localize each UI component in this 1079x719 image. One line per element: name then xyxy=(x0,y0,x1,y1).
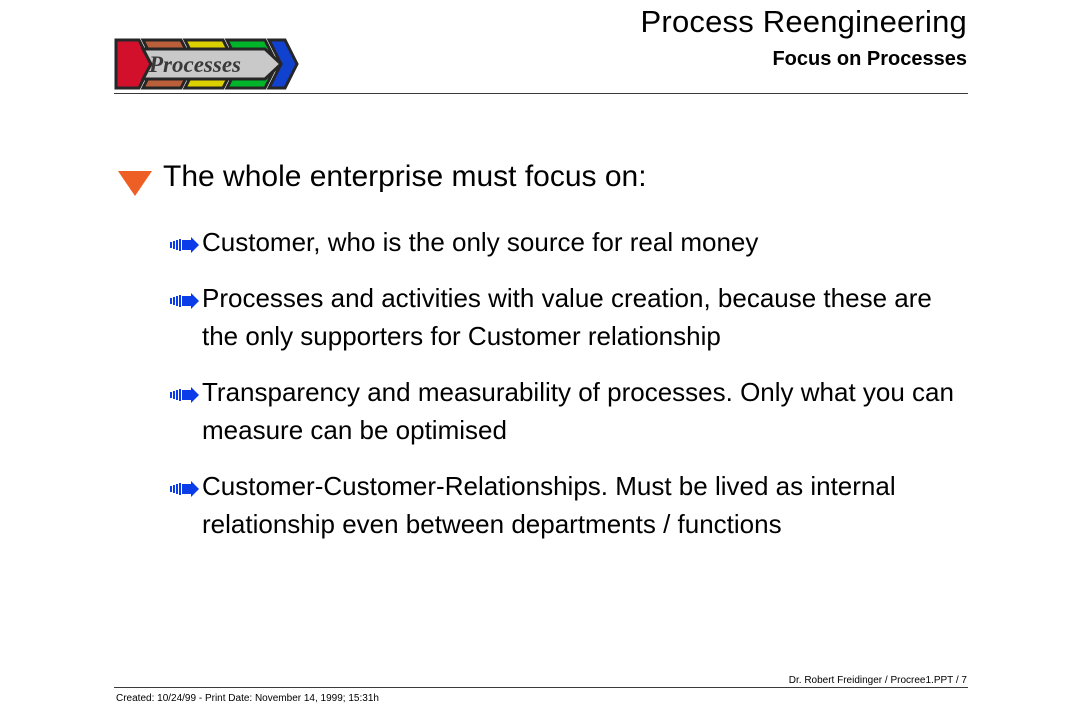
slide-footer: Created: 10/24/99 - Print Date: November… xyxy=(0,679,1079,719)
list-item: Transparency and measurability of proces… xyxy=(0,374,1079,450)
page-subtitle: Focus on Processes xyxy=(641,49,967,69)
header-divider xyxy=(114,93,968,94)
footer-author-file-page: Dr. Robert Freidinger / Procree1.PPT / 7 xyxy=(789,675,967,686)
list-item-label: Customer, who is the only source for rea… xyxy=(202,224,959,262)
logo-label: Processes xyxy=(148,52,241,77)
list-item-label: Transparency and measurability of proces… xyxy=(202,374,959,450)
slide-header: Processes Process Reengineering Focus on… xyxy=(0,0,1079,100)
title-block: Process Reengineering Focus on Processes xyxy=(641,6,967,69)
motion-arrow-right-icon xyxy=(170,292,200,310)
processes-logo: Processes xyxy=(113,36,299,92)
list-item: Processes and activities with value crea… xyxy=(0,280,1079,356)
triangle-down-icon xyxy=(118,171,152,196)
chevron-arrow-logo-icon: Processes xyxy=(113,36,299,92)
list-item-label: Customer-Customer-Relationships. Must be… xyxy=(202,468,959,544)
motion-arrow-right-icon xyxy=(170,386,200,404)
list-item: Customer-Customer-Relationships. Must be… xyxy=(0,468,1079,544)
level1-bullet: The whole enterprise must focus on: xyxy=(0,160,1079,198)
list-item-label: Processes and activities with value crea… xyxy=(202,280,959,356)
motion-arrow-right-icon xyxy=(170,480,200,498)
list-item: Customer, who is the only source for rea… xyxy=(0,224,1079,262)
slide-content: The whole enterprise must focus on: Cust… xyxy=(0,160,1079,562)
page-title: Process Reengineering xyxy=(641,6,967,37)
footer-created-text: Created: 10/24/99 - Print Date: November… xyxy=(116,693,379,704)
footer-divider xyxy=(114,687,968,688)
level1-bullet-label: The whole enterprise must focus on: xyxy=(163,160,1079,194)
motion-arrow-right-icon xyxy=(170,236,200,254)
